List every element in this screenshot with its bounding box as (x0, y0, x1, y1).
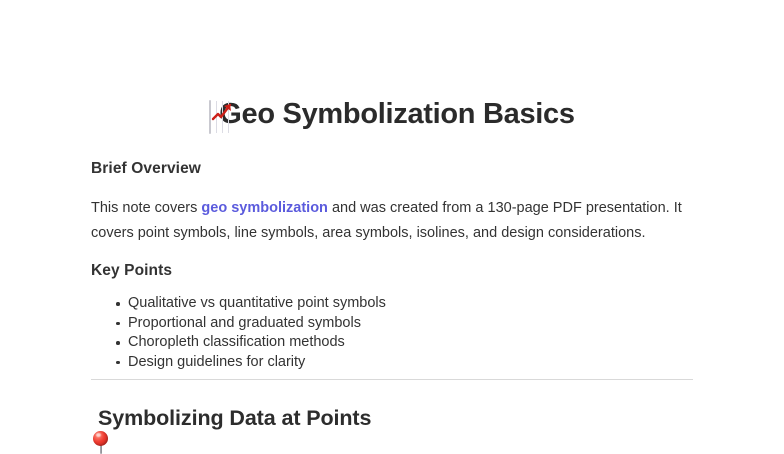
heading-symbolizing-text: Symbolizing Data at Points (98, 406, 371, 430)
page-title-text: Geo Symbolization Basics (219, 98, 574, 130)
heading-brief-overview: Brief Overview (91, 159, 201, 179)
section-divider (91, 379, 693, 380)
chart-increasing-icon (209, 99, 211, 135)
brief-overview-paragraph: This note covers geo symbolization and w… (91, 196, 693, 246)
list-item: Choropleth classification methods (128, 333, 693, 352)
key-points-list: Qualitative vs quantitative point symbol… (91, 294, 693, 372)
heading-key-points: Key Points (91, 261, 172, 281)
list-item: Qualitative vs quantitative point symbol… (128, 294, 693, 313)
document-page: Geo Symbolization Basics Brief Overview … (0, 0, 784, 441)
page-title: Geo Symbolization Basics (91, 96, 693, 135)
highlighted-term: geo symbolization (201, 200, 328, 216)
list-item: Design guidelines for clarity (128, 353, 693, 372)
paragraph-text-before: This note covers (91, 200, 201, 216)
list-item: Proportional and graduated symbols (128, 314, 693, 333)
heading-symbolizing-data-at-points: Symbolizing Data at Points (91, 404, 371, 432)
